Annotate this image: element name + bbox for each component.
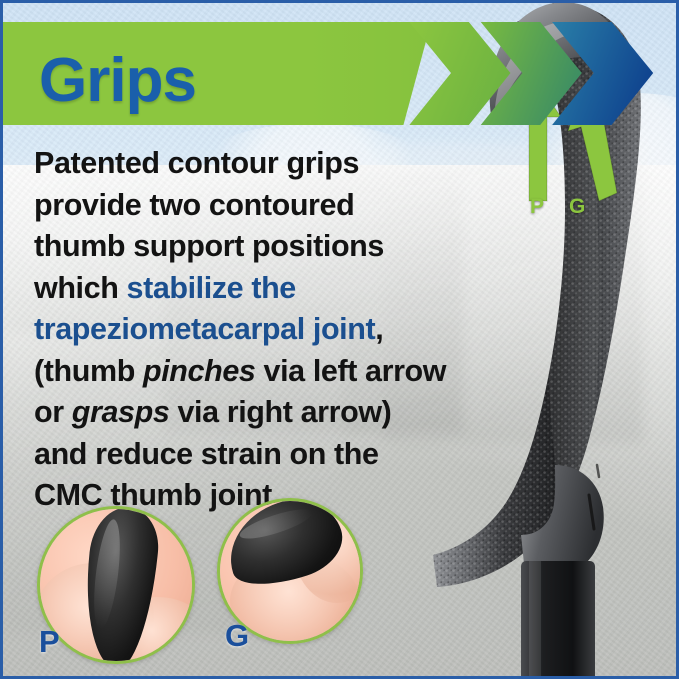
pinch-grip-photo [37, 506, 195, 664]
description-line: provide two contoured [34, 185, 486, 227]
description-segment: stabilize the [127, 271, 296, 305]
description-segment: via right arrow) [169, 395, 391, 429]
description-segment: or [34, 395, 72, 429]
description-segment: grasps [72, 395, 170, 429]
description-segment: , [375, 312, 383, 346]
description-segment: provide two contoured [34, 188, 354, 222]
description-line: and reduce strain on the [34, 434, 486, 476]
pinch-photo-label: P [39, 626, 60, 657]
description-segment: trapeziometacarpal joint [34, 312, 375, 346]
description-segment: and reduce strain on the [34, 437, 379, 471]
description-line: Patented contour grips [34, 143, 486, 185]
page-title: Grips [39, 50, 196, 112]
description-segment: Patented contour grips [34, 146, 359, 180]
description-line: or grasps via right arrow) [34, 392, 486, 434]
description-segment: thumb support positions [34, 229, 384, 263]
grasp-photo-label: G [225, 620, 249, 651]
description-line: (thumb pinches via left arrow [34, 351, 486, 393]
description-segment: (thumb [34, 354, 143, 388]
description-line: trapeziometacarpal joint, [34, 309, 486, 351]
pinch-arrow-label: P [530, 196, 544, 217]
grasp-arrow-label: G [569, 196, 585, 217]
header-banner: Grips [3, 22, 676, 125]
description-segment: pinches [143, 354, 255, 388]
product-infographic: P G [0, 0, 679, 679]
description-text: Patented contour gripsprovide two contou… [34, 143, 486, 517]
description-line: thumb support positions [34, 226, 486, 268]
description-segment: via left arrow [255, 354, 446, 388]
description-segment: which [34, 271, 127, 305]
description-line: which stabilize the [34, 268, 486, 310]
